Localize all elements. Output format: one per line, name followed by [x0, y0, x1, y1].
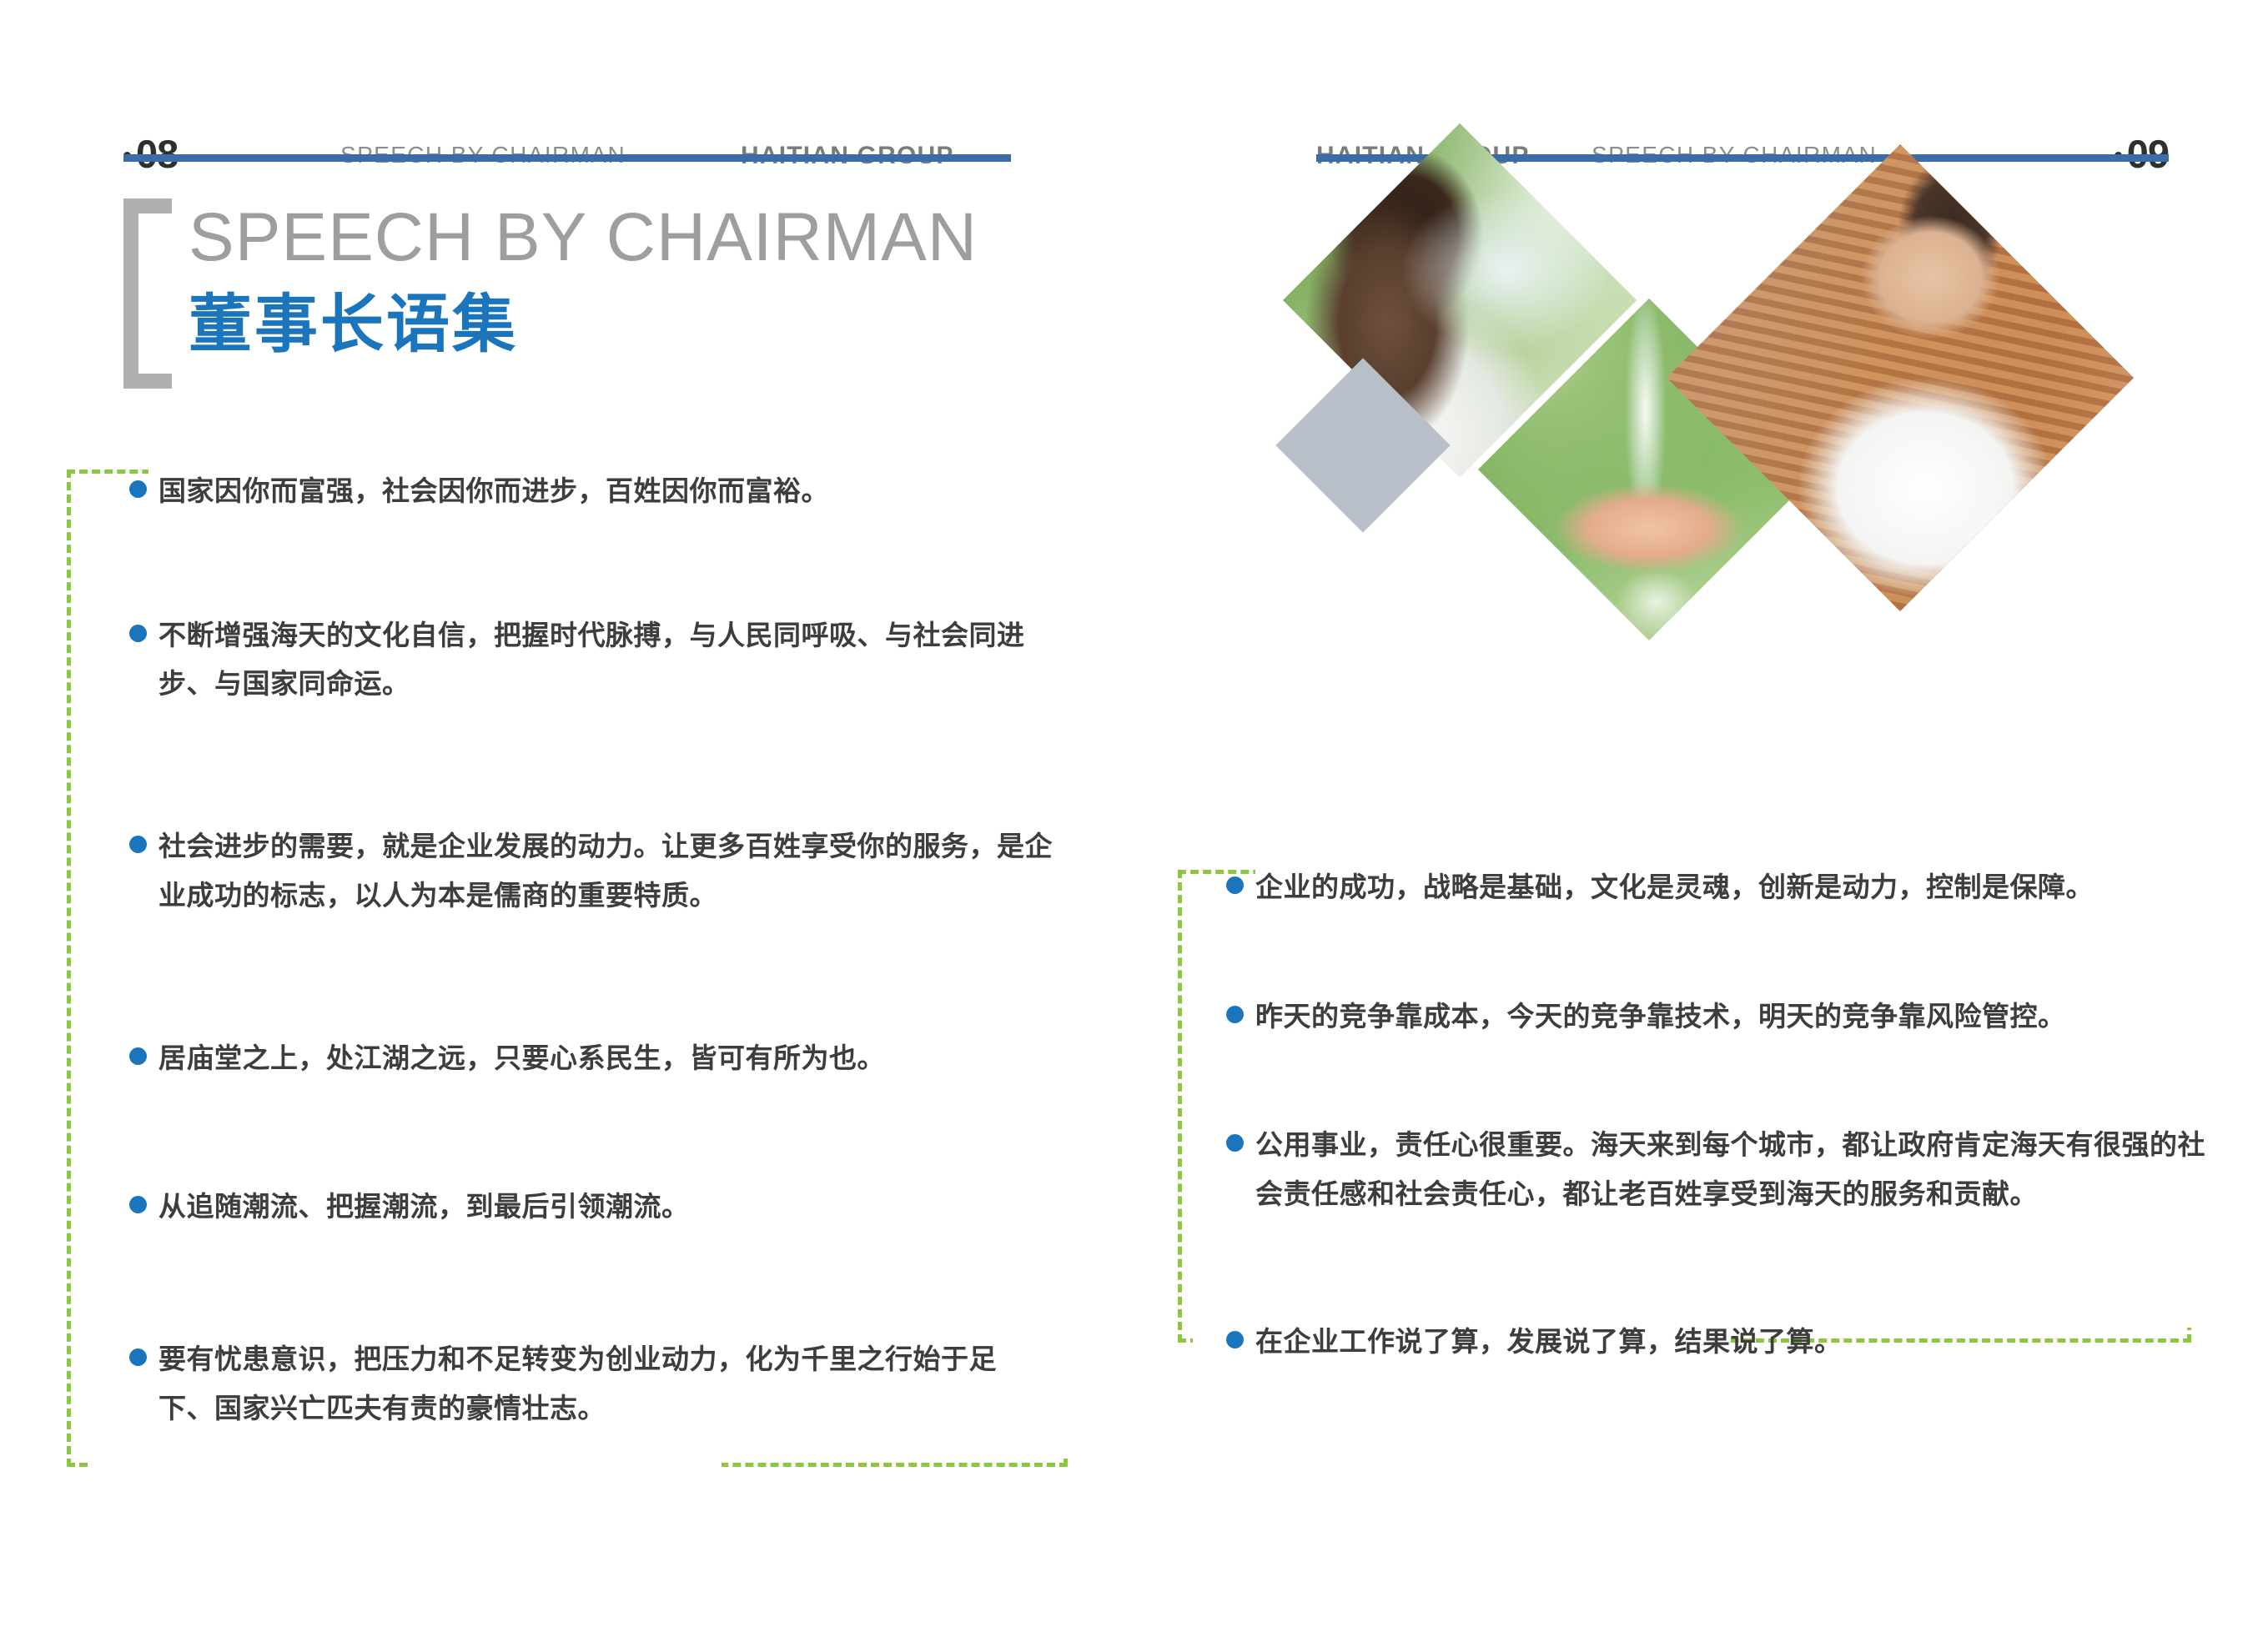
list-item: 居庙堂之上，处江湖之远，只要心系民生，皆可有所为也。 [129, 1034, 1064, 1083]
bullet-dot-icon [1226, 876, 1244, 894]
list-item-text: 公用事业，责任心很重要。海天来到每个城市，都让政府肯定海天有很强的社会责任感和社… [1255, 1121, 2206, 1218]
bullet-dot-icon [129, 1348, 147, 1366]
bracket-decoration-icon [123, 198, 172, 389]
right-quote-list: 企业的成功，战略是基础，文化是灵魂，创新是动力，控制是保障。 昨天的竞争靠成本，… [1226, 863, 2210, 1367]
list-item: 公用事业，责任心很重要。海天来到每个城市，都让政府肯定海天有很强的社会责任感和社… [1226, 1121, 2210, 1218]
list-item: 从追随潮流、把握潮流，到最后引领潮流。 [129, 1183, 1064, 1232]
page-title-chinese: 董事长语集 [189, 286, 518, 362]
list-item-text: 不断增强海天的文化自信，把握时代脉搏，与人民同呼吸、与社会同进步、与国家同命运。 [158, 611, 1030, 709]
bullet-dot-icon [129, 625, 147, 642]
page-title-english: SPEECH BY CHAIRMAN [189, 202, 978, 274]
list-item: 社会进步的需要，就是企业发展的动力。让更多百姓享受你的服务，是企业成功的标志，以… [129, 822, 1064, 920]
list-item-text: 昨天的竞争靠成本，今天的竞争靠技术，明天的竞争靠风险管控。 [1255, 992, 2202, 1042]
list-item-text: 企业的成功，战略是基础，文化是灵魂，创新是动力，控制是保障。 [1255, 863, 2202, 912]
bullet-dot-icon [129, 480, 147, 498]
diamond-photo-collage [1301, 158, 2244, 851]
bullet-dot-icon [1226, 1134, 1244, 1152]
list-item: 不断增强海天的文化自信，把握时代脉搏，与人民同呼吸、与社会同进步、与国家同命运。 [129, 611, 1064, 709]
bullet-dot-icon [1226, 1006, 1244, 1023]
list-item-text: 国家因你而富强，社会因你而进步，百姓因你而富裕。 [158, 467, 1043, 516]
list-item-text: 从追随潮流、把握潮流，到最后引领潮流。 [158, 1183, 1043, 1232]
list-item-text: 要有忧患意识，把压力和不足转变为创业动力，化为千里之行始于足下、国家兴亡匹夫有责… [158, 1335, 1051, 1433]
list-item: 企业的成功，战略是基础，文化是灵魂，创新是动力，控制是保障。 [1226, 863, 2210, 912]
list-item-text: 在企业工作说了算，发展说了算，结果说了算。 [1255, 1318, 2202, 1367]
page-title-block: SPEECH BY CHAIRMAN 董事长语集 [123, 198, 958, 390]
bullet-dot-icon [129, 1196, 147, 1213]
list-item: 国家因你而富强，社会因你而进步，百姓因你而富裕。 [129, 467, 1064, 516]
brochure-spread: 08 SPEECH BY CHAIRMAN HAITIAN GROUP SPEE… [0, 0, 2268, 1627]
left-header-rule [123, 154, 1011, 162]
left-quote-list: 国家因你而富强，社会因你而进步，百姓因你而富裕。 不断增强海天的文化自信，把握时… [129, 467, 1064, 1434]
left-page-header: 08 SPEECH BY CHAIRMAN HAITIAN GROUP [123, 107, 1011, 173]
list-item-text: 社会进步的需要，就是企业发展的动力。让更多百姓享受你的服务，是企业成功的标志，以… [158, 822, 1055, 920]
left-page: 08 SPEECH BY CHAIRMAN HAITIAN GROUP SPEE… [0, 0, 1134, 1627]
list-item-text: 居庙堂之上，处江湖之远，只要心系民生，皆可有所为也。 [158, 1034, 1043, 1083]
list-item: 昨天的竞争靠成本，今天的竞争靠技术，明天的竞争靠风险管控。 [1226, 992, 2210, 1042]
list-item: 要有忧患意识，把压力和不足转变为创业动力，化为千里之行始于足下、国家兴亡匹夫有责… [129, 1335, 1064, 1433]
bullet-dot-icon [1226, 1331, 1244, 1348]
list-item: 在企业工作说了算，发展说了算，结果说了算。 [1226, 1318, 2210, 1367]
bullet-dot-icon [129, 1047, 147, 1065]
bullet-dot-icon [129, 836, 147, 853]
